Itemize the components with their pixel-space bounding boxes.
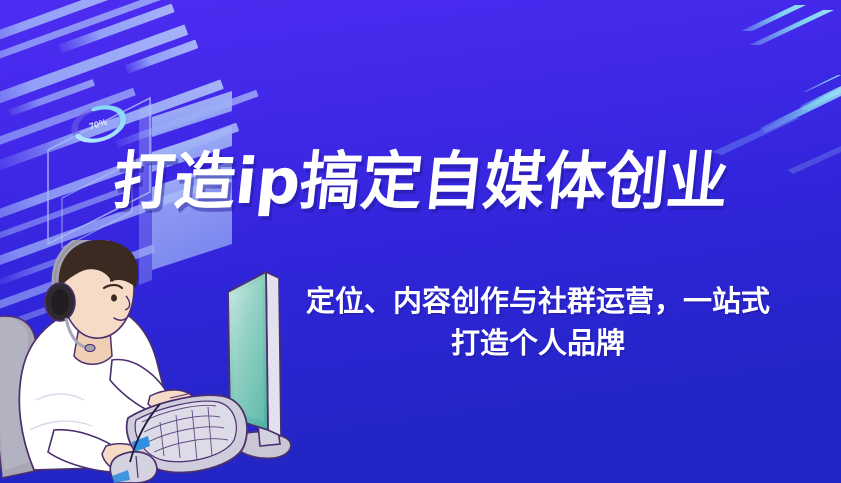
computer-mouse [110,452,157,483]
subtitle-block: 定位、内容创作与社群运营，一站式 打造个人品牌 [253,280,823,364]
poster-canvas: 70% [0,0,841,483]
poster-subtitle-line-2: 打造个人品牌 [253,322,823,364]
illustration-man-at-computer [0,0,841,483]
poster-subtitle-line-1: 定位、内容创作与社群运营，一站式 [253,280,823,322]
